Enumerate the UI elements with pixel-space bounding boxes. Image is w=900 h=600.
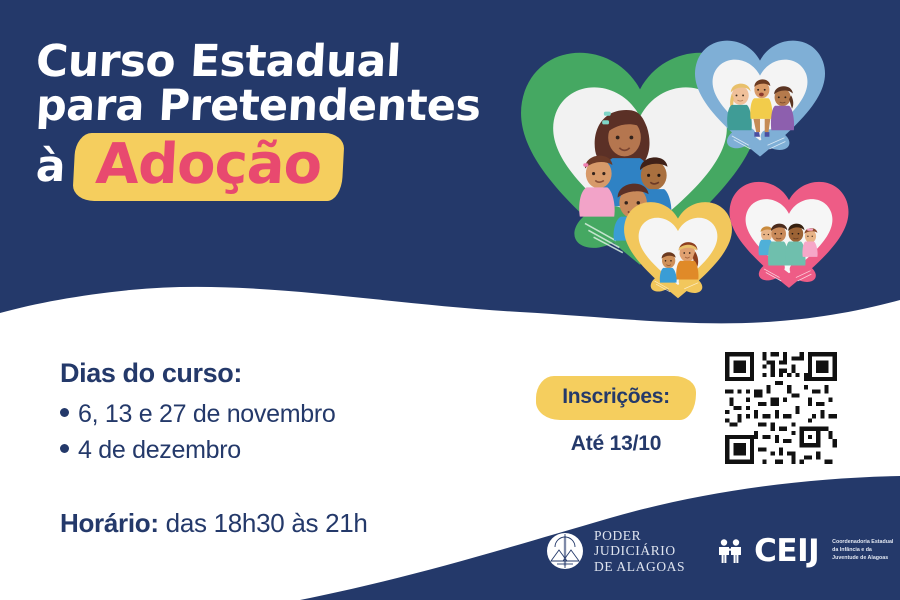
registration-badge: Inscrições:: [536, 376, 696, 420]
ceij-acronym: CEIJ: [754, 536, 819, 567]
poster-canvas: Curso Estadual para Pretendentes à Adoçã…: [0, 0, 900, 600]
judiciary-emblem-icon: [545, 531, 585, 571]
poster-title: Curso Estadual para Pretendentes à Adoçã…: [36, 40, 466, 201]
pink-heart: [730, 182, 849, 288]
title-line-3: à Adoção: [34, 133, 468, 201]
registration-deadline: Até 13/10: [536, 432, 696, 456]
title-preposition: à: [35, 145, 67, 189]
schedule-value: das 18h30 às 21h: [166, 508, 368, 538]
judiciary-line-3: DE ALAGOAS: [594, 559, 685, 574]
title-line-2: para Pretendentes: [35, 85, 467, 129]
ceij-tagline: Coordenadoria Estadual da Infância e da …: [832, 539, 898, 563]
schedule-label: Horário:: [60, 508, 159, 538]
course-info: Dias do curso: 6, 13 e 27 de novembro 4 …: [60, 358, 368, 539]
bullet-icon: [60, 444, 69, 453]
two-children-icon: [715, 536, 745, 566]
title-highlight-badge: Adoção: [72, 133, 345, 201]
list-item: 4 de dezembro: [60, 433, 368, 469]
title-line-1: Curso Estadual: [35, 40, 467, 85]
poder-judiciario-logo: PODER JUDICIÁRIO DE ALAGOAS: [545, 528, 685, 574]
ceij-logo: CEIJ Coordenadoria Estadual da Infância …: [715, 536, 898, 567]
registration-block: Inscrições: Até 13/10: [536, 376, 696, 456]
list-item: 6, 13 e 27 de novembro: [60, 397, 368, 433]
judiciary-line-1: PODER: [594, 528, 685, 543]
course-days-heading: Dias do curso:: [60, 358, 368, 389]
judiciary-line-2: JUDICIÁRIO: [594, 543, 685, 558]
footer-logos: PODER JUDICIÁRIO DE ALAGOAS CEIJ Coorden…: [545, 523, 898, 579]
course-day-label: 4 de dezembro: [78, 433, 241, 469]
registration-label: Inscrições:: [562, 385, 670, 408]
title-highlight-word: Adoção: [94, 132, 323, 197]
course-schedule: Horário: das 18h30 às 21h: [60, 508, 368, 539]
judiciary-wordmark: PODER JUDICIÁRIO DE ALAGOAS: [594, 528, 685, 574]
course-day-label: 6, 13 e 27 de novembro: [78, 397, 335, 433]
qr-code[interactable]: [721, 347, 841, 469]
bullet-icon: [60, 408, 69, 417]
